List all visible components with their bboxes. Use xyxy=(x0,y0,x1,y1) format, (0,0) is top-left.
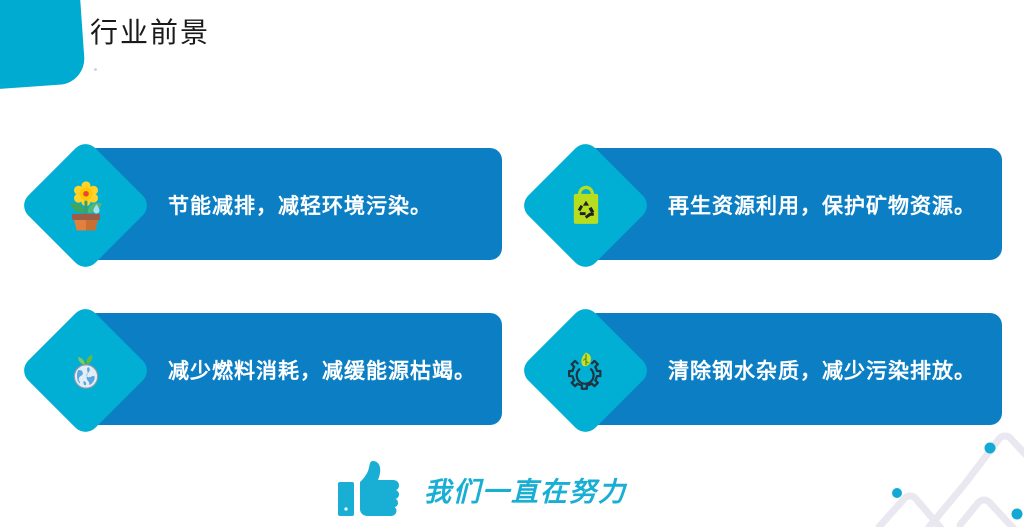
feature-card-1[interactable]: 节能减排，减轻环境污染。 xyxy=(18,138,502,272)
deco-dot xyxy=(892,488,902,498)
feature-card-3[interactable]: 减少燃料消耗，减缓能源枯竭。 xyxy=(18,303,502,437)
deco-dot xyxy=(1012,509,1023,520)
page-title: 行业前景 xyxy=(90,16,210,50)
title-dot-decoration xyxy=(94,68,97,71)
recycle-bag-icon xyxy=(555,175,617,237)
deco-dot xyxy=(985,443,996,454)
card-text: 再生资源利用，保护矿物资源。 xyxy=(668,138,976,272)
feature-card-2[interactable]: 再生资源利用，保护矿物资源。 xyxy=(518,138,1002,272)
slide-canvas: 行业前景 xyxy=(0,0,1024,527)
footer-slogan-group: 我们一直在努力 xyxy=(336,460,627,518)
thumbs-up-icon xyxy=(336,460,402,518)
sprouting-earth-icon xyxy=(55,340,117,402)
card-text: 节能减排，减轻环境污染。 xyxy=(168,138,432,272)
slogan-text: 我们一直在努力 xyxy=(424,470,627,509)
corner-accent-shape xyxy=(0,0,86,97)
potted-flower-icon xyxy=(55,175,117,237)
eco-gear-icon xyxy=(555,340,617,402)
feature-card-4[interactable]: 清除钢水杂质，减少污染排放。 xyxy=(518,303,1002,437)
card-text: 减少燃料消耗，减缓能源枯竭。 xyxy=(168,303,476,437)
card-text: 清除钢水杂质，减少污染排放。 xyxy=(668,303,976,437)
